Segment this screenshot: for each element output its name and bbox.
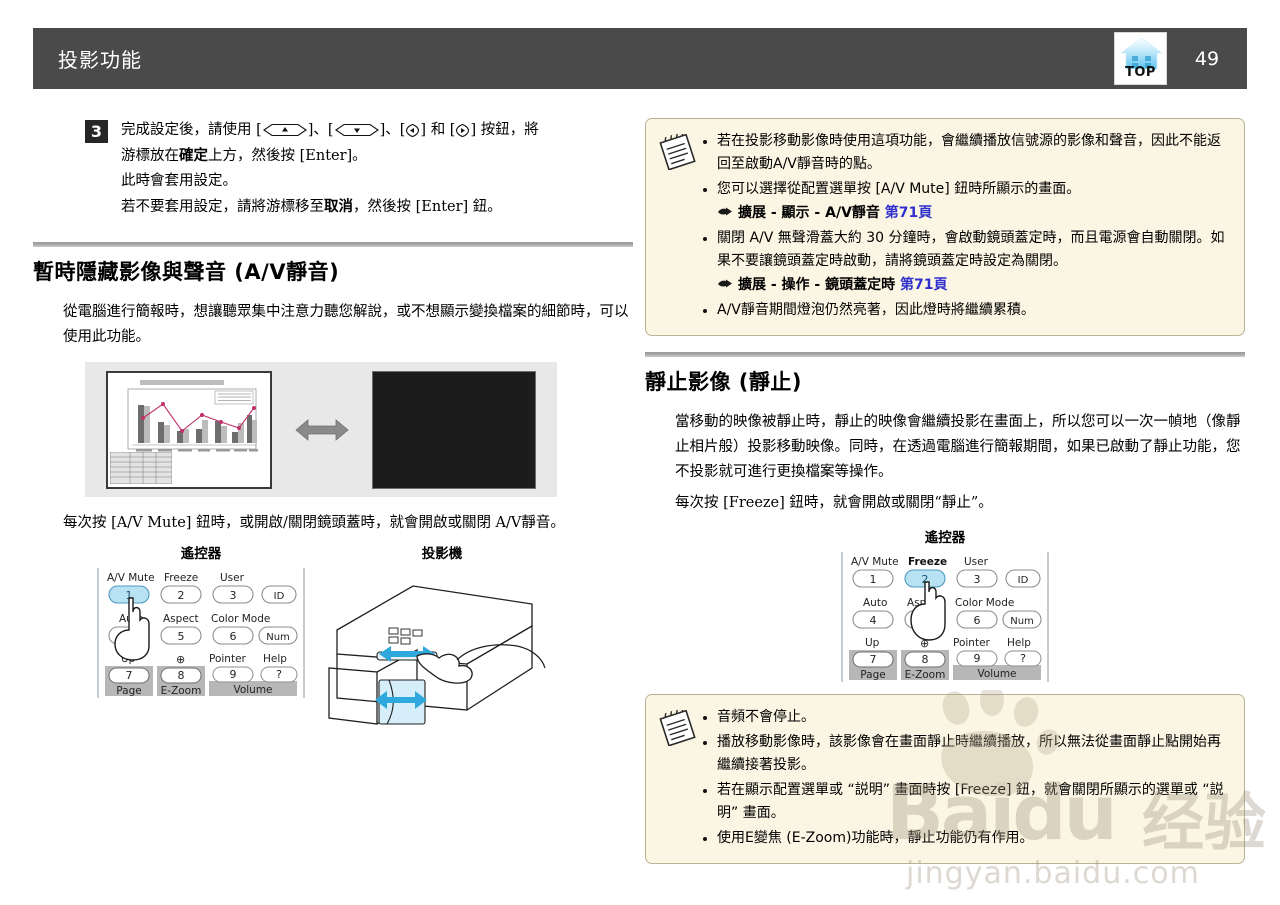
key-right-icon [455, 123, 470, 138]
step-number-badge: 3 [85, 120, 108, 143]
section-title-av-mute: 暫時隱藏影像與聲音 (A/V靜音) [33, 256, 633, 286]
svg-text:4: 4 [870, 614, 877, 627]
top-button-label: TOP [1125, 66, 1156, 79]
step-line1-mid1: ]、[ [308, 122, 334, 138]
memo-icon [658, 706, 702, 852]
svg-text:?: ? [276, 668, 282, 681]
svg-text:7: 7 [126, 669, 133, 682]
step-line4-bold: 取消 [324, 198, 353, 215]
step-text: 完成設定後，請使用 []、[]、[] 和 [] 按鈕，將 游標放在確定上方，然後… [121, 118, 539, 220]
av-mute-devices: 遙控器 A/V Mute Freeze User 1 2 3 ID [85, 542, 633, 758]
note-item: 若在投影移動影像時使用這項功能，會繼續播放信號源的影像和聲音，因此不能返回至啟動… [702, 130, 1230, 176]
note-item: A/V靜音期間燈泡仍然亮著，因此燈時將繼續累積。 [702, 299, 1230, 322]
av-mute-illustration [85, 362, 557, 497]
svg-text:User: User [220, 572, 245, 584]
step-line1-mid3: ] 和 [ [420, 122, 455, 138]
cross-reference-2[interactable]: 擴展 - 操作 - 鏡頭蓋定時 第71頁 [717, 274, 1230, 297]
svg-text:Auto: Auto [863, 597, 887, 609]
note-item: 關閉 A/V 無聲滑蓋大約 30 分鐘時，會啟動鏡頭蓋定時，而且電源會自動關閉。… [702, 227, 1230, 297]
right-column: 若在投影移動影像時使用這項功能，會繼續播放信號源的影像和聲音，因此不能返回至啟動… [645, 118, 1245, 864]
note-item: 使用E變焦 (E-Zoom)功能時，靜止功能仍有作用。 [702, 827, 1230, 850]
svg-text:E-Zoom: E-Zoom [905, 669, 946, 681]
note-item: 您可以選擇從配置選單按 [A/V Mute] 鈕時所顯示的畫面。 擴展 - 顯示… [702, 178, 1230, 225]
svg-text:3: 3 [230, 589, 237, 602]
cross-reference-text: 擴展 - 顯示 - A/V靜音 [738, 205, 880, 221]
svg-text:6: 6 [230, 630, 237, 643]
svg-text:2: 2 [178, 589, 185, 602]
key-down-wide-icon [334, 123, 380, 137]
pointing-hand-icon [717, 206, 733, 217]
step-line1-mid2: ]、[ [380, 122, 406, 138]
mini-chart-graphic [118, 379, 264, 459]
svg-text:ID: ID [1018, 575, 1029, 586]
section-av-mute: 暫時隱藏影像與聲音 (A/V靜音) 從電腦進行簡報時，想讓聽眾集中注意力聽您解說… [33, 242, 633, 536]
section-freeze: 靜止影像 (靜止) 當移動的映像被靜止時，靜止的映像會繼續投影在畫面上，所以您可… [645, 352, 1245, 516]
note-item: 若在顯示配置選單或 “説明” 畫面時按 [Freeze] 鈕，就會關閉所顯示的選… [702, 779, 1230, 825]
note-list-av-mute: 若在投影移動影像時使用這項功能，會繼續播放信號源的影像和聲音，因此不能返回至啟動… [702, 130, 1230, 324]
svg-text:A/V Mute: A/V Mute [851, 556, 899, 568]
remote-caption: 遙控器 [85, 542, 317, 562]
remote-caption-freeze: 遙控器 [645, 526, 1245, 546]
double-arrow-icon [294, 417, 350, 443]
step-line4-a: 若不要套用設定，請將游標移至 [121, 199, 324, 215]
cross-reference-text: 擴展 - 操作 - 鏡頭蓋定時 [738, 277, 895, 293]
svg-text:Pointer: Pointer [953, 637, 991, 649]
note-list-freeze: 音頻不會停止。 播放移動影像時，該影像會在畫面靜止時繼續播放，所以無法從畫面靜止… [702, 706, 1230, 852]
cross-reference-page[interactable]: 第71頁 [885, 205, 932, 221]
svg-text:E-Zoom: E-Zoom [161, 685, 202, 697]
svg-text:3: 3 [974, 573, 981, 586]
note-item-text: 您可以選擇從配置選單按 [A/V Mute] 鈕時所顯示的畫面。 [717, 181, 1080, 197]
svg-text:Page: Page [116, 685, 141, 697]
note-item-text: 關閉 A/V 無聲滑蓋大約 30 分鐘時，會啟動鏡頭蓋定時，而且電源會自動關閉。… [717, 230, 1224, 269]
projected-image-screen [106, 371, 272, 489]
svg-text:Num: Num [266, 632, 290, 643]
section-divider [33, 242, 633, 247]
svg-text:8: 8 [922, 653, 929, 666]
svg-text:Freeze: Freeze [164, 572, 198, 584]
svg-text:User: User [964, 556, 989, 568]
projector-caption: 投影機 [317, 542, 567, 562]
page-title: 投影功能 [58, 44, 142, 73]
svg-text:Pointer: Pointer [209, 653, 247, 665]
page-number: 49 [1167, 48, 1247, 70]
step-3-block: 3 完成設定後，請使用 []、[]、[] 和 [] 按鈕，將 游標放在確定上方，… [33, 118, 633, 220]
section-divider [645, 352, 1245, 357]
step-line3: 此時會套用設定。 [121, 169, 539, 194]
note-item: 播放移動影像時，該影像會在畫面靜止時繼續播放，所以無法從畫面靜止點開始再繼續接著… [702, 731, 1230, 777]
svg-text:⊕: ⊕ [176, 653, 185, 666]
note-item: 音頻不會停止。 [702, 706, 1230, 729]
pointing-hand-icon [717, 278, 733, 289]
svg-text:Freeze: Freeze [908, 556, 947, 568]
svg-text:Help: Help [1007, 637, 1031, 649]
key-left-icon [405, 123, 420, 138]
step-line2-bold: 確定 [179, 147, 208, 164]
svg-text:7: 7 [870, 653, 877, 666]
svg-text:Volume: Volume [233, 684, 272, 696]
section-paragraph-av-mute: 從電腦進行簡報時，想讓聽眾集中注意力聽您解說，或不想顯示變換檔案的細節時，可以使… [33, 300, 633, 350]
top-button[interactable]: TOP [1114, 32, 1167, 85]
svg-text:Up: Up [865, 637, 880, 649]
projector-graphic [317, 568, 547, 758]
step-line2-b: 上方，然後按 [Enter]。 [208, 148, 367, 164]
svg-text:Aspect: Aspect [163, 613, 199, 625]
section-paragraph-freeze-2: 每次按 [Freeze] 鈕時，就會開啟或關閉“靜止”。 [645, 491, 1245, 516]
svg-text:9: 9 [974, 652, 981, 665]
remote-control-graphic-avmute: A/V Mute Freeze User 1 2 3 ID Auto Aspec… [97, 568, 305, 698]
device-projector: 投影機 [317, 542, 567, 758]
step-line4-b: ，然後按 [Enter] 鈕。 [353, 199, 502, 215]
svg-text:Help: Help [263, 653, 287, 665]
memo-icon [658, 130, 702, 324]
key-up-wide-icon [262, 123, 308, 137]
svg-text:9: 9 [230, 668, 237, 681]
svg-text:Color Mode: Color Mode [955, 597, 1014, 609]
left-column: 3 完成設定後，請使用 []、[]、[] 和 [] 按鈕，將 游標放在確定上方，… [33, 118, 633, 758]
section-paragraph-freeze-1: 當移動的映像被靜止時，靜止的映像會繼續投影在畫面上，所以您可以一次一幀地（像靜止… [645, 410, 1245, 485]
svg-text:Page: Page [860, 669, 885, 681]
svg-text:A/V Mute: A/V Mute [107, 572, 155, 584]
remote-control-graphic-freeze: A/V Mute Freeze User 1 2 3 ID Auto Aspec… [841, 552, 1049, 682]
mini-table-graphic [110, 452, 172, 484]
cross-reference-page[interactable]: 第71頁 [900, 277, 947, 293]
svg-text:6: 6 [974, 614, 981, 627]
section-title-freeze: 靜止影像 (靜止) [645, 366, 1245, 396]
cross-reference-1[interactable]: 擴展 - 顯示 - A/V靜音 第71頁 [717, 202, 1230, 225]
step-line1-suffix: ] 按鈕，將 [470, 122, 538, 138]
svg-text:5: 5 [178, 630, 185, 643]
header-right-group: TOP 49 [1114, 28, 1247, 89]
blanked-screen [372, 371, 536, 489]
device-remote-avmute: 遙控器 A/V Mute Freeze User 1 2 3 ID [85, 542, 317, 758]
svg-text:1: 1 [870, 573, 877, 586]
svg-text:Volume: Volume [977, 668, 1016, 680]
step-line2-a: 游標放在 [121, 148, 179, 164]
svg-text:Color Mode: Color Mode [211, 613, 270, 625]
svg-text:Num: Num [1010, 616, 1034, 627]
av-mute-toggle-text: 每次按 [A/V Mute] 鈕時，或開啟/關閉鏡頭蓋時，就會開啟或關閉 A/V… [33, 511, 633, 536]
note-box-freeze: 音頻不會停止。 播放移動影像時，該影像會在畫面靜止時繼續播放，所以無法從畫面靜止… [645, 694, 1245, 864]
note-box-av-mute: 若在投影移動影像時使用這項功能，會繼續播放信號源的影像和聲音，因此不能返回至啟動… [645, 118, 1245, 336]
svg-text:8: 8 [178, 669, 185, 682]
svg-text:ID: ID [274, 591, 285, 602]
step-line1-prefix: 完成設定後，請使用 [ [121, 122, 262, 138]
svg-text:?: ? [1020, 652, 1026, 665]
device-remote-freeze: 遙控器 A/V Mute Freeze User 1 2 3 ID Auto A… [645, 526, 1245, 682]
page-header: 投影功能 TOP 49 [33, 28, 1247, 89]
